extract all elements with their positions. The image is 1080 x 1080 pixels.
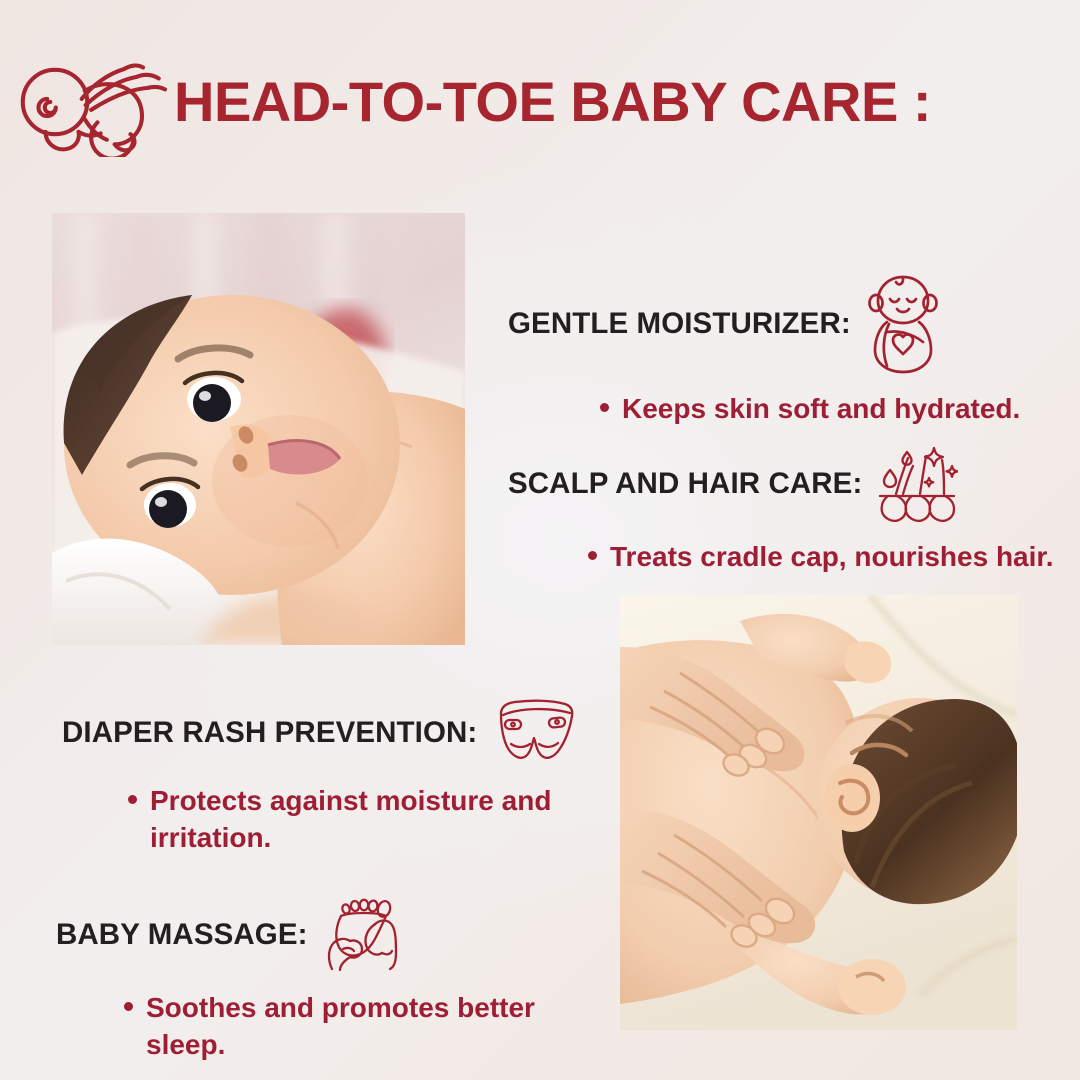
- bullet-dot-icon: [600, 403, 609, 412]
- bullet-dot-icon: [128, 795, 137, 804]
- baby-lying-with-hand-icon: [8, 47, 168, 157]
- photo-baby-massage: [620, 595, 1017, 1030]
- page-title: HEAD-TO-TOE BABY CARE :: [174, 74, 931, 130]
- bullet-item: Treats cradle cap, nourishes hair.: [588, 538, 1054, 575]
- bullet-dot-icon: [124, 1002, 133, 1011]
- feature-diaper-rash-prevention: DIAPER RASH PREVENTION: Protects against…: [62, 698, 577, 856]
- massaging-hands-foot-icon: [322, 895, 410, 975]
- bullet-text-moisturizer: Keeps skin soft and hydrated.: [622, 390, 1020, 427]
- feature-heading-row: GENTLE MOISTURIZER:: [508, 272, 1020, 376]
- feature-heading-row: BABY MASSAGE:: [56, 895, 564, 975]
- feature-gentle-moisturizer: GENTLE MOISTURIZER:: [508, 272, 1020, 427]
- feature-scalp-and-hair-care: SCALP AND HAIR CARE:: [508, 444, 1054, 575]
- poster-canvas: HEAD-TO-TOE BABY CARE :: [0, 0, 1080, 1080]
- bullet-item: Soothes and promotes better sleep.: [124, 989, 564, 1063]
- photo-baby-face: [52, 213, 465, 645]
- feature-heading-diaper: DIAPER RASH PREVENTION:: [62, 718, 477, 749]
- bullet-text-diaper: Protects against moisture and irritation…: [150, 782, 568, 856]
- bullet-item: Keeps skin soft and hydrated.: [600, 390, 1020, 427]
- diaper-icon: [491, 698, 577, 768]
- baby-face-illustration: [52, 213, 465, 645]
- feature-heading-row: SCALP AND HAIR CARE:: [508, 444, 1054, 524]
- bullet-dot-icon: [588, 551, 597, 560]
- hair-follicle-icon: [876, 444, 958, 524]
- feature-heading-moisturizer: GENTLE MOISTURIZER:: [508, 309, 851, 340]
- feature-heading-row: DIAPER RASH PREVENTION:: [62, 698, 577, 768]
- bullet-item: Protects against moisture and irritation…: [128, 782, 568, 856]
- bullet-text-scalp: Treats cradle cap, nourishes hair.: [610, 538, 1054, 575]
- feature-baby-massage: BABY MASSAGE:: [56, 895, 564, 1063]
- feature-heading-massage: BABY MASSAGE:: [56, 920, 308, 951]
- baby-massage-illustration: [620, 595, 1017, 1030]
- swaddled-baby-icon: [865, 272, 941, 376]
- header: HEAD-TO-TOE BABY CARE :: [0, 42, 1080, 162]
- feature-heading-scalp: SCALP AND HAIR CARE:: [508, 469, 862, 500]
- bullet-text-massage: Soothes and promotes better sleep.: [146, 989, 564, 1063]
